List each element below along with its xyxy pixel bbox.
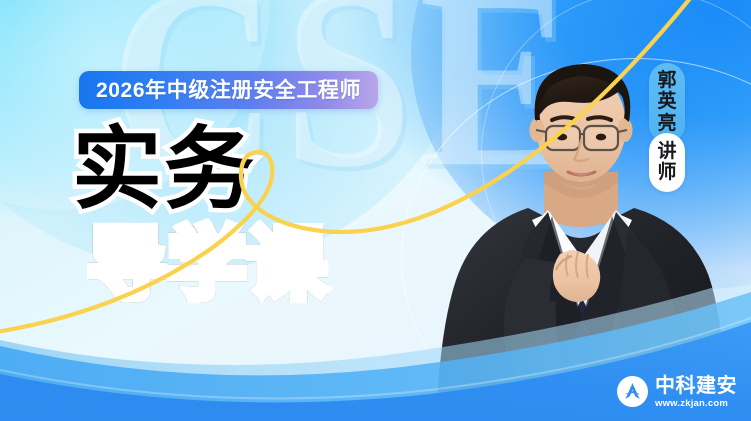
- instructor-name-char-2: 英: [657, 91, 676, 112]
- brand-url: www.zkjan.com: [655, 399, 737, 409]
- instructor-name-chip: 郭 英 亮: [649, 63, 685, 143]
- course-cover-banner: CSE CSE: [0, 0, 751, 421]
- bottom-wave-decoration: [0, 0, 751, 421]
- brand-logo-text: 中科建安 www.zkjan.com: [655, 376, 737, 409]
- brand-logo: 中科建安 www.zkjan.com: [617, 376, 737, 409]
- instructor-title-char-2: 师: [657, 162, 676, 183]
- instructor-title-chip: 讲 师: [649, 133, 685, 193]
- mountain-arrow-icon: [617, 376, 648, 407]
- instructor-name-char-1: 郭: [657, 70, 676, 91]
- instructor-name-char-3: 亮: [657, 113, 676, 134]
- brand-name: 中科建安: [655, 376, 737, 396]
- instructor-name-tag: 郭 英 亮 讲 师: [649, 63, 685, 192]
- instructor-title-char-1: 讲: [657, 141, 676, 162]
